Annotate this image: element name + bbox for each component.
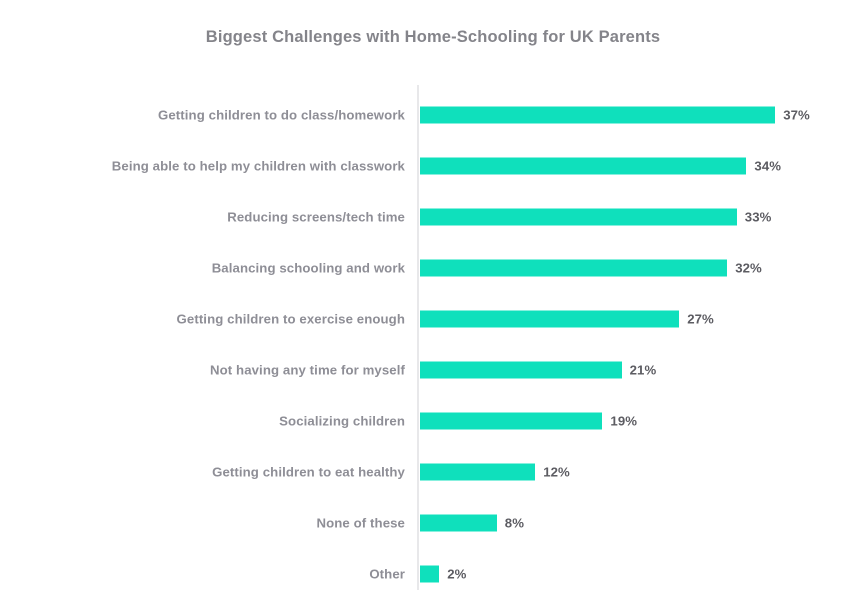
bar-category-label: Balancing schooling and work <box>212 260 405 275</box>
bar-value-label: 12% <box>543 464 570 479</box>
bar-category-label: Socializing children <box>279 413 405 428</box>
bar-track: 33% <box>420 208 772 225</box>
bar-category-label: Getting children to exercise enough <box>177 311 405 326</box>
bar-fill[interactable] <box>420 310 679 327</box>
bar-track: 37% <box>420 106 810 123</box>
bar-value-label: 8% <box>505 515 524 530</box>
bar-track: 8% <box>420 514 524 531</box>
bar-track: 34% <box>420 157 781 174</box>
bar-category-label: Reducing screens/tech time <box>227 209 405 224</box>
bar-category-label: Getting children to eat healthy <box>212 464 405 479</box>
bar-fill[interactable] <box>420 514 497 531</box>
bar-value-label: 2% <box>447 566 466 581</box>
bar-value-label: 32% <box>735 260 762 275</box>
bar-row: Getting children to do class/homework37% <box>0 89 866 140</box>
bar-fill[interactable] <box>420 157 746 174</box>
bar-fill[interactable] <box>420 106 775 123</box>
bar-row: None of these8% <box>0 497 866 548</box>
bar-row: Getting children to exercise enough27% <box>0 293 866 344</box>
chart-title: Biggest Challenges with Home-Schooling f… <box>0 28 866 47</box>
bar-row: Getting children to eat healthy12% <box>0 446 866 497</box>
bar-chart: Biggest Challenges with Home-Schooling f… <box>0 0 866 609</box>
bar-track: 19% <box>420 412 637 429</box>
bar-value-label: 33% <box>745 209 772 224</box>
bar-fill[interactable] <box>420 565 439 582</box>
bar-category-label: None of these <box>317 515 406 530</box>
bar-row: Not having any time for myself21% <box>0 344 866 395</box>
bar-track: 2% <box>420 565 466 582</box>
bar-fill[interactable] <box>420 259 727 276</box>
bar-row: Being able to help my children with clas… <box>0 140 866 191</box>
bar-fill[interactable] <box>420 412 602 429</box>
bar-category-label: Not having any time for myself <box>210 362 405 377</box>
bar-row: Reducing screens/tech time33% <box>0 191 866 242</box>
bar-value-label: 21% <box>630 362 657 377</box>
bar-fill[interactable] <box>420 361 622 378</box>
bar-fill[interactable] <box>420 208 737 225</box>
plot-area: Getting children to do class/homework37%… <box>0 85 866 590</box>
bar-track: 27% <box>420 310 714 327</box>
bar-category-label: Other <box>369 566 405 581</box>
bar-row: Socializing children19% <box>0 395 866 446</box>
bar-fill[interactable] <box>420 463 535 480</box>
bar-value-label: 37% <box>783 107 810 122</box>
bar-track: 21% <box>420 361 656 378</box>
bar-value-label: 34% <box>754 158 781 173</box>
bar-value-label: 27% <box>687 311 714 326</box>
bar-row: Other2% <box>0 548 866 599</box>
bar-value-label: 19% <box>610 413 637 428</box>
bar-category-label: Being able to help my children with clas… <box>112 158 405 173</box>
bar-category-label: Getting children to do class/homework <box>158 107 405 122</box>
bar-track: 12% <box>420 463 570 480</box>
bar-row: Balancing schooling and work32% <box>0 242 866 293</box>
bar-track: 32% <box>420 259 762 276</box>
